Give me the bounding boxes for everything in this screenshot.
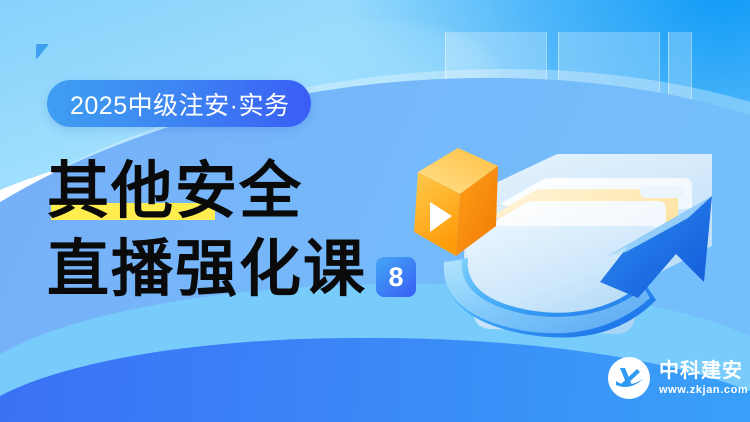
course-title-block: 其他安全 直播强化课 8 [47,152,447,302]
brand-logo: 中科建安 www.zkjan.com [608,357,748,399]
speech-bubble-tail-icon [36,44,49,60]
folder-documents-illustration [412,86,742,346]
zkjan-circle-logo-icon [608,357,650,399]
course-category-label: 2025中级注安·实务 [70,86,289,122]
brand-url: www.zkjan.com [659,384,748,396]
course-title-line-1-row: 其他安全 [47,152,447,224]
course-category-tag: 2025中级注安·实务 [47,80,311,127]
course-title-line-1: 其他安全 [47,158,303,224]
episode-number: 8 [389,264,404,291]
course-title-line-2: 直播强化课 [47,236,367,302]
episode-number-badge: 8 [376,257,416,297]
course-title-line-2-row: 直播强化课 8 [47,230,447,302]
brand-name: 中科建安 [659,360,748,382]
brand-logo-words: 中科建安 www.zkjan.com [659,360,748,396]
course-promo-banner: 2025中级注安·实务 其他安全 直播强化课 8 中科建安 www.zkjan.… [0,0,750,422]
